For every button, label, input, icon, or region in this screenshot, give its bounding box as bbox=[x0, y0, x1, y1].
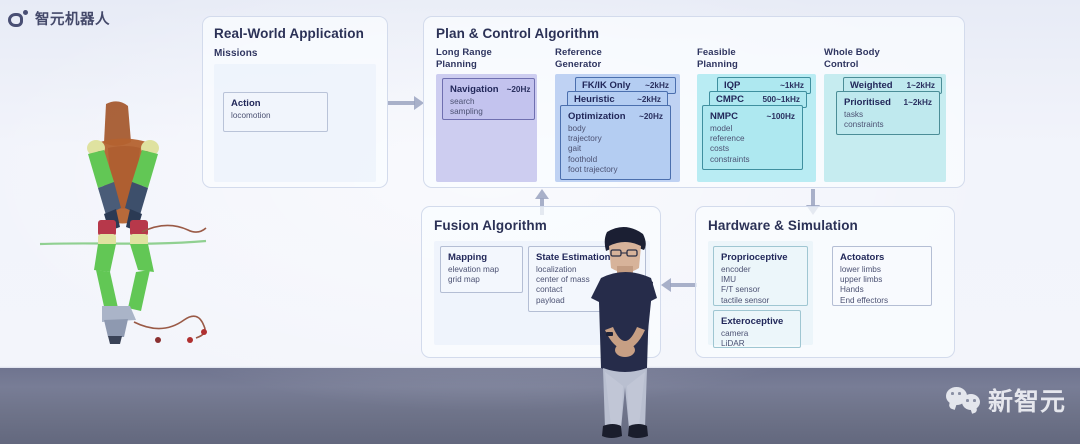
card-title: CMPC bbox=[716, 94, 744, 105]
card-item: model bbox=[710, 124, 795, 134]
card-exteroceptive[interactable]: Exteroceptive camera LiDAR bbox=[713, 310, 801, 348]
card-navigation[interactable]: Navigation ~20Hz search sampling bbox=[442, 78, 535, 120]
label-line-1: Whole Body bbox=[824, 47, 880, 58]
card-frequency: ~20Hz bbox=[639, 112, 663, 121]
card-frequency: ~1kHz bbox=[780, 81, 804, 90]
card-item: LiDAR bbox=[721, 339, 793, 349]
card-item: costs bbox=[710, 144, 795, 154]
card-item: trajectory bbox=[568, 134, 663, 144]
humanoid-robot-visualization bbox=[38, 96, 208, 346]
card-item: IMU bbox=[721, 275, 800, 285]
card-item: End effectors bbox=[840, 296, 924, 306]
card-item: camera bbox=[721, 329, 793, 339]
card-frequency: ~2kHz bbox=[637, 95, 661, 104]
card-frequency: ~2kHz bbox=[645, 81, 669, 90]
card-item: foothold bbox=[568, 155, 663, 165]
card-item: F/T sensor bbox=[721, 285, 800, 295]
card-item: search bbox=[450, 97, 527, 107]
card-title: Optimization bbox=[568, 111, 626, 122]
card-frequency: 500~1kHz bbox=[762, 95, 800, 104]
card-title: Actoators bbox=[840, 252, 884, 263]
panel-title: Hardware & Simulation bbox=[708, 218, 858, 233]
card-title: Mapping bbox=[448, 252, 487, 263]
wechat-icon bbox=[946, 387, 980, 413]
card-item: body bbox=[568, 124, 663, 134]
card-item: constraints bbox=[710, 155, 795, 165]
card-mapping[interactable]: Mapping elevation map grid map bbox=[440, 246, 523, 293]
card-item: upper limbs bbox=[840, 275, 924, 285]
arrow-realworld-to-plan bbox=[388, 95, 424, 111]
label-line-1: Feasible bbox=[697, 47, 736, 58]
card-item: Hands bbox=[840, 285, 924, 295]
card-nmpc[interactable]: NMPC ~100Hz model reference costs constr… bbox=[702, 105, 803, 170]
label-line-1: Reference bbox=[555, 47, 602, 58]
label-line-2: Planning bbox=[436, 59, 477, 70]
column-label-whole-body-control: Whole Body Control bbox=[824, 47, 880, 70]
label-line-1: Long Range bbox=[436, 47, 492, 58]
card-title: Proprioceptive bbox=[721, 252, 788, 263]
stage-floor bbox=[0, 368, 1080, 444]
card-title: Exteroceptive bbox=[721, 316, 783, 327]
card-title: IQP bbox=[724, 80, 740, 91]
panel-plan-control-algorithm: Plan & Control Algorithm Long Range Plan… bbox=[423, 16, 965, 188]
card-proprioceptive[interactable]: Proprioceptive encoder IMU F/T sensor ta… bbox=[713, 246, 808, 306]
brand-name: 智元机器人 bbox=[35, 8, 110, 29]
card-item: foot trajectory bbox=[568, 165, 663, 175]
card-title: Action bbox=[231, 98, 261, 109]
presenter-person bbox=[575, 222, 675, 444]
panel-title: Real-World Application bbox=[214, 26, 364, 41]
channel-watermark: 新智元 bbox=[946, 382, 1066, 418]
panel-real-world-application: Real-World Application Missions Action l… bbox=[202, 16, 388, 188]
card-item: reference bbox=[710, 134, 795, 144]
card-frequency: 1~2kHz bbox=[904, 98, 932, 107]
panel-title: Fusion Algorithm bbox=[434, 218, 547, 233]
card-prioritised[interactable]: Prioritised 1~2kHz tasks constraints bbox=[836, 91, 940, 135]
card-actoators[interactable]: Actoators lower limbs upper limbs Hands … bbox=[832, 246, 932, 306]
label-line-2: Generator bbox=[555, 59, 601, 70]
column-label-long-range-planning: Long Range Planning bbox=[436, 47, 492, 70]
card-item: gait bbox=[568, 144, 663, 154]
card-title: Heuristic bbox=[574, 94, 615, 105]
column-label-feasible-planning: Feasible Planning bbox=[697, 47, 738, 70]
brand-logo: 智元机器人 bbox=[8, 8, 110, 29]
card-item: grid map bbox=[448, 275, 515, 285]
label-line-2: Control bbox=[824, 59, 858, 70]
card-item: encoder bbox=[721, 265, 800, 275]
card-item: tasks bbox=[844, 110, 932, 120]
card-title: Weighted bbox=[850, 80, 893, 91]
card-item: locomotion bbox=[231, 111, 320, 121]
section-label-missions: Missions bbox=[214, 48, 258, 60]
card-frequency: ~20Hz bbox=[507, 85, 531, 94]
card-item: constraints bbox=[844, 120, 932, 130]
card-item: sampling bbox=[450, 107, 527, 117]
card-optimization[interactable]: Optimization ~20Hz body trajectory gait … bbox=[560, 105, 671, 180]
card-item: elevation map bbox=[448, 265, 515, 275]
card-title: Prioritised bbox=[844, 97, 891, 108]
panel-title: Plan & Control Algorithm bbox=[436, 26, 599, 41]
brand-mark-icon bbox=[8, 10, 28, 28]
card-title: NMPC bbox=[710, 111, 738, 122]
card-item: lower limbs bbox=[840, 265, 924, 275]
card-frequency: 1~2kHz bbox=[907, 81, 935, 90]
card-frequency: ~100Hz bbox=[767, 112, 795, 121]
label-line-2: Planning bbox=[697, 59, 738, 70]
card-action[interactable]: Action locomotion bbox=[223, 92, 328, 132]
panel-hardware-simulation: Hardware & Simulation Proprioceptive enc… bbox=[695, 206, 955, 358]
column-label-reference-generator: Reference Generator bbox=[555, 47, 602, 70]
watermark-text: 新智元 bbox=[988, 382, 1066, 418]
card-title: Navigation bbox=[450, 84, 499, 95]
card-item: tactile sensor bbox=[721, 296, 800, 306]
card-title: FK/IK Only bbox=[582, 80, 631, 91]
